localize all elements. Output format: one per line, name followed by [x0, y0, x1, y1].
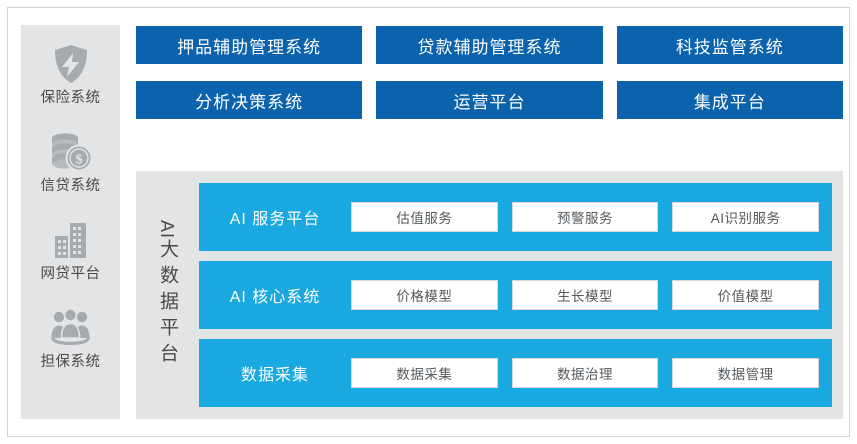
diagram-canvas: 保险系统 $ 信贷系统: [0, 0, 857, 444]
chip-data-governance[interactable]: 数据治理: [512, 358, 659, 388]
sidebar-item-guarantee[interactable]: 担保系统: [21, 305, 120, 393]
chip-price-model[interactable]: 价格模型: [351, 280, 498, 310]
row-title: 数据采集: [199, 361, 351, 385]
chip-ai-recognition-service[interactable]: AI识别服务: [672, 202, 819, 232]
bar-tech-supervision[interactable]: 科技监管系统: [617, 26, 843, 64]
platform-label-ai: AI: [157, 220, 177, 239]
people-group-icon: [48, 305, 94, 351]
shield-bolt-icon: [51, 41, 91, 87]
sidebar: 保险系统 $ 信贷系统: [21, 25, 120, 419]
sidebar-item-insurance[interactable]: 保险系统: [21, 41, 120, 129]
platform-row-ai-service: AI 服务平台 估值服务 预警服务 AI识别服务: [199, 183, 832, 251]
svg-text:$: $: [75, 153, 82, 168]
sidebar-item-label: 担保系统: [41, 355, 101, 370]
top-bar-row-1: 押品辅助管理系统 贷款辅助管理系统 科技监管系统: [136, 26, 843, 64]
top-system-bars: 押品辅助管理系统 贷款辅助管理系统 科技监管系统 分析决策系统 运营平台 集成平…: [136, 26, 843, 136]
buildings-icon: [49, 217, 93, 263]
sidebar-item-label: 网贷平台: [41, 267, 101, 282]
chip-valuation-service[interactable]: 估值服务: [351, 202, 498, 232]
bar-loan-mgmt[interactable]: 贷款辅助管理系统: [376, 26, 602, 64]
platform-row-data-collection: 数据采集 数据采集 数据治理 数据管理: [199, 339, 832, 407]
platform-label-rest: 大数据平台: [157, 240, 178, 370]
sidebar-item-label: 信贷系统: [41, 179, 101, 194]
bar-operations-platform[interactable]: 运营平台: [376, 81, 602, 119]
sidebar-item-credit[interactable]: $ 信贷系统: [21, 129, 120, 217]
platform-vertical-label: AI大数据平台: [136, 183, 199, 407]
chip-alert-service[interactable]: 预警服务: [512, 202, 659, 232]
chip-value-model[interactable]: 价值模型: [672, 280, 819, 310]
chip-growth-model[interactable]: 生长模型: [512, 280, 659, 310]
row-chips: 数据采集 数据治理 数据管理: [351, 358, 819, 388]
bar-analysis-decision[interactable]: 分析决策系统: [136, 81, 362, 119]
chip-data-collection[interactable]: 数据采集: [351, 358, 498, 388]
chip-data-management[interactable]: 数据管理: [672, 358, 819, 388]
bar-collateral-mgmt[interactable]: 押品辅助管理系统: [136, 26, 362, 64]
row-chips: 估值服务 预警服务 AI识别服务: [351, 202, 819, 232]
platform-rows: AI 服务平台 估值服务 预警服务 AI识别服务 AI 核心系统 价格模型 生长…: [199, 183, 832, 407]
sidebar-item-online-loan[interactable]: 网贷平台: [21, 217, 120, 305]
row-chips: 价格模型 生长模型 价值模型: [351, 280, 819, 310]
bar-integration-platform[interactable]: 集成平台: [617, 81, 843, 119]
ai-bigdata-platform-panel: AI大数据平台 AI 服务平台 估值服务 预警服务 AI识别服务 AI 核心系统…: [136, 171, 843, 419]
sidebar-item-label: 保险系统: [41, 91, 101, 106]
row-title: AI 核心系统: [199, 283, 351, 307]
platform-row-ai-core: AI 核心系统 价格模型 生长模型 价值模型: [199, 261, 832, 329]
top-bar-row-2: 分析决策系统 运营平台 集成平台: [136, 81, 843, 119]
coins-dollar-icon: $: [48, 129, 94, 175]
row-title: AI 服务平台: [199, 205, 351, 229]
